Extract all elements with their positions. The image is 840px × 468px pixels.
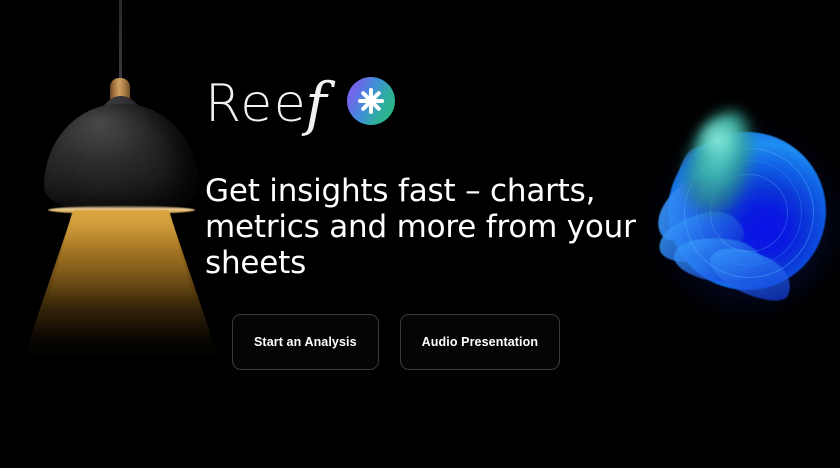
hero-screen: Reef Get insights fast – charts, metrics… <box>0 0 840 468</box>
brand-wordmark: Reef <box>205 72 329 130</box>
swirl-glow-haze <box>650 120 840 310</box>
cta-button-row: Start an Analysis Audio Presentation <box>232 314 560 370</box>
audio-presentation-button[interactable]: Audio Presentation <box>400 314 560 370</box>
hero-headline: Get insights fast – charts, metrics and … <box>205 174 665 282</box>
brand-wordmark-main: Ree <box>205 74 307 134</box>
swirl-teal-highlight <box>691 114 741 175</box>
asterisk-starburst-icon <box>347 77 395 125</box>
swirl-petal <box>703 235 799 310</box>
swirl-petal <box>671 230 769 289</box>
hero-content: Reef Get insights fast – charts, metrics… <box>205 0 675 468</box>
lamp-rim-glow <box>48 206 195 214</box>
swirl-ring <box>710 174 788 252</box>
swirl-core <box>668 132 826 290</box>
lamp-shade <box>44 104 199 214</box>
lamp-wooden-neck <box>110 78 130 122</box>
swirl-ring <box>696 160 802 266</box>
starburst-hub <box>367 97 375 105</box>
lamp-light-beam-core <box>40 210 202 306</box>
brand-lockup: Reef <box>205 72 395 130</box>
lamp-shade-taper <box>92 96 150 152</box>
swirl-petal <box>663 133 748 222</box>
start-an-analysis-button[interactable]: Start an Analysis <box>232 314 379 370</box>
swirl-ring <box>667 131 831 295</box>
lamp-cord <box>119 0 122 84</box>
brand-wordmark-tail: f <box>305 70 326 138</box>
swirl-teal-accent <box>676 104 761 220</box>
pendant-lamp-illustration <box>0 0 230 468</box>
lamp-light-beam <box>18 210 224 360</box>
